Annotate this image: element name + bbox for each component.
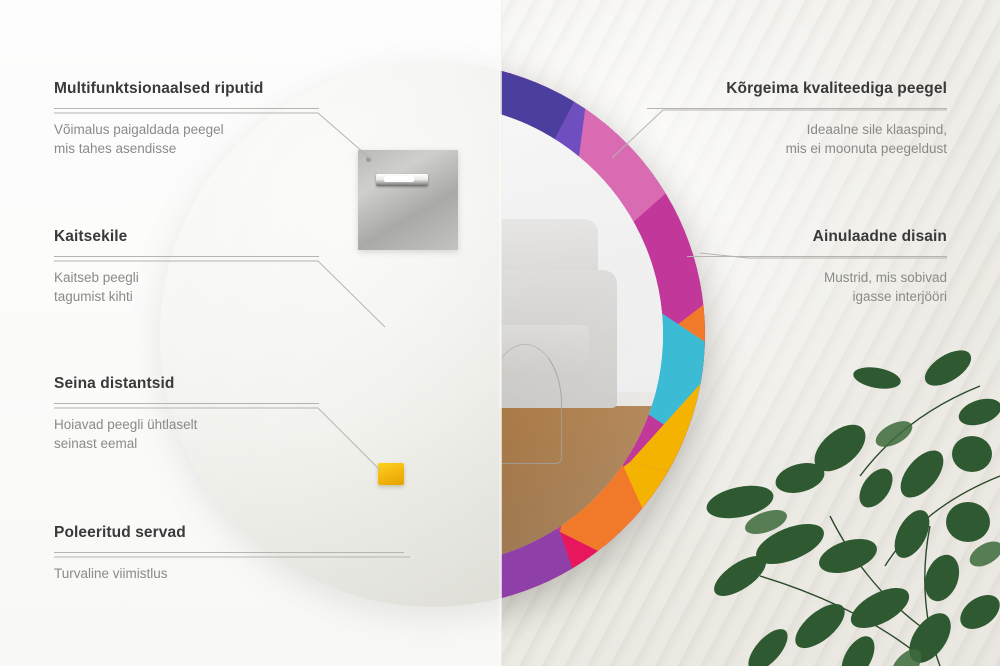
callout-description: Võimalus paigaldada peegel mis tahes ase… (54, 120, 319, 159)
callout-rule (54, 403, 319, 404)
callout-protective-film: Kaitsekile Kaitseb peegli tagumist kihti (54, 228, 319, 307)
callout-wall-spacers: Seina distantsid Hoiavad peegli ühtlasel… (54, 375, 319, 454)
callout-title: Kaitsekile (54, 228, 319, 247)
callout-title: Poleeritud servad (54, 524, 404, 543)
callout-rule (54, 108, 319, 109)
callout-polished-edges: Poleeritud servad Turvaline viimistlus (54, 524, 404, 583)
callout-description: Turvaline viimistlus (54, 564, 404, 584)
callout-highest-quality-mirror: Kõrgeima kvaliteediga peegel Ideaalne si… (647, 80, 947, 159)
callout-rule (687, 256, 947, 257)
callout-title: Multifunktsionaalsed riputid (54, 80, 319, 99)
callout-rule (54, 256, 319, 257)
callout-unique-design: Ainulaadne disain Mustrid, mis sobivad i… (687, 228, 947, 307)
callout-description: Ideaalne sile klaaspind, mis ei moonuta … (647, 120, 947, 159)
callout-description: Mustrid, mis sobivad igasse interjööri (687, 268, 947, 307)
infographic-canvas: Multifunktsionaalsed riputid Võimalus pa… (0, 0, 1000, 666)
callout-description: Hoiavad peegli ühtlaselt seinast eemal (54, 415, 319, 454)
callout-multifunctional-hangers: Multifunktsionaalsed riputid Võimalus pa… (54, 80, 319, 159)
callout-title: Ainulaadne disain (687, 228, 947, 247)
callout-title: Seina distantsid (54, 375, 319, 394)
callout-rule (647, 108, 947, 109)
callout-rule (54, 552, 404, 553)
callout-title: Kõrgeima kvaliteediga peegel (647, 80, 947, 99)
plant-leaves (680, 326, 1000, 666)
callout-description: Kaitseb peegli tagumist kihti (54, 268, 319, 307)
